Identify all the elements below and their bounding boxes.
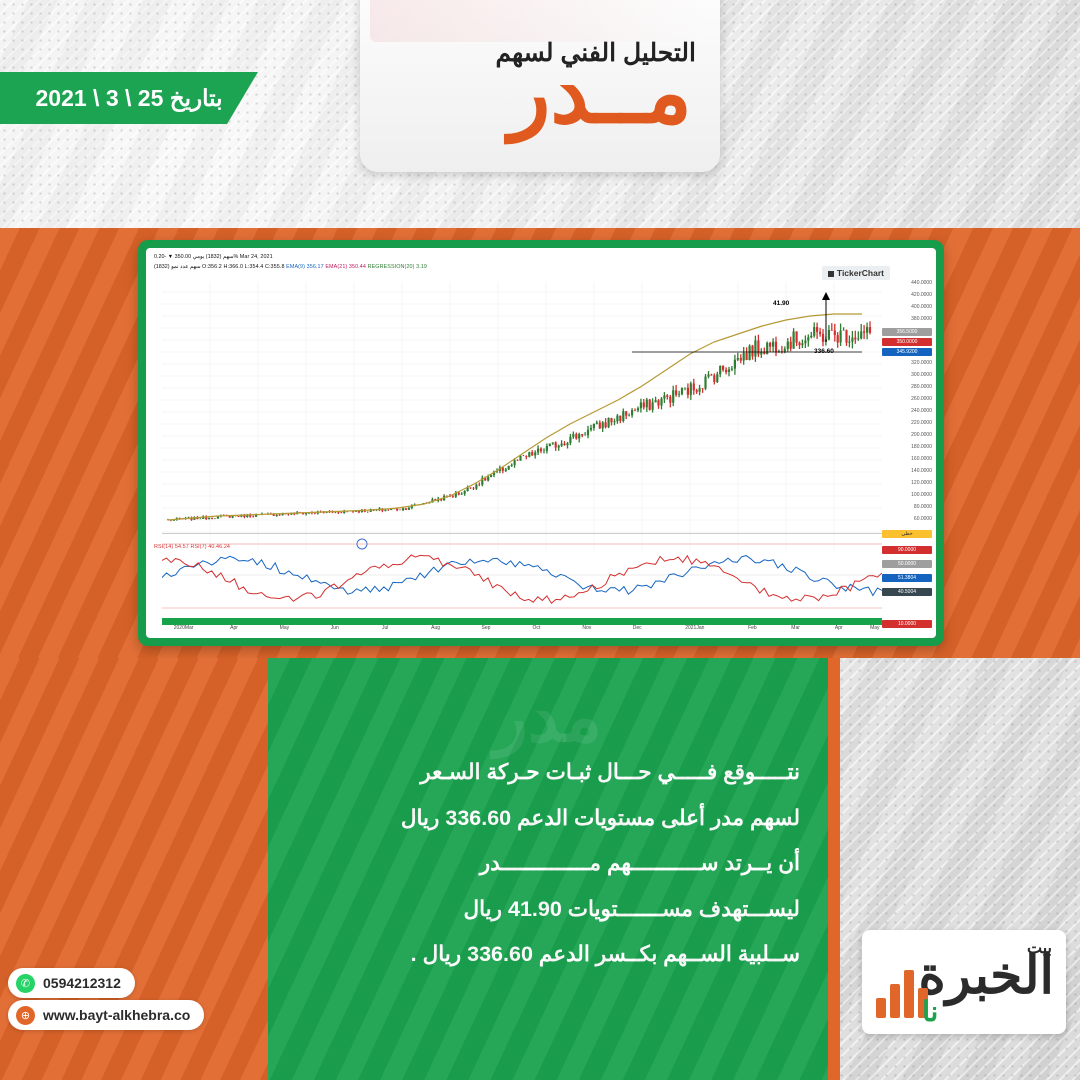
target-price-label: 41.90 — [773, 300, 789, 307]
price-plot — [162, 282, 882, 552]
tickerchart-label: TickerChart — [837, 268, 884, 278]
logo-main-word: الخبرة — [919, 946, 1054, 1006]
logo-accent-word: نا — [922, 995, 938, 1028]
chart-header-ema: EMA(9) 356.17 — [286, 264, 324, 270]
x-tick: Sep — [482, 625, 491, 631]
analysis-panel: مدر نتـــــوقع فـــــي حـــال ثبـات حـرك… — [268, 658, 828, 1080]
page-title: مــدر — [509, 50, 692, 136]
rsi-box-10: 10.0000 — [882, 620, 932, 628]
y-tick: 240.0000 — [882, 408, 932, 414]
y-tick: 160.0000 — [882, 456, 932, 462]
chart-header-instrument: سهم عدد نمو (1832) O:356.2 H:366.0 L:354… — [154, 264, 285, 270]
phone-contact[interactable]: ✆ 0594212312 — [8, 968, 135, 998]
chart-header-regression: REGRESSION(20) 3.19 — [368, 264, 427, 270]
website-contact[interactable]: ⊕ www.bayt-alkhebra.co — [8, 1000, 204, 1030]
support-price-label: 336.60 — [814, 348, 834, 355]
x-tick: Apr — [230, 625, 238, 631]
y-tick: 400.0000 — [882, 304, 932, 310]
y-tick: 100.0000 — [882, 492, 932, 498]
tickerchart-logo: TickerChart — [822, 266, 890, 280]
x-tick: 2020Mar — [174, 625, 194, 631]
x-tick: Mar — [791, 625, 800, 631]
y-tick: 280.0000 — [882, 384, 932, 390]
chart-header-ema2: EMA(21) 350.44 — [325, 264, 366, 270]
analysis-text: نتـــــوقع فـــــي حـــال ثبـات حـركة ال… — [296, 750, 800, 978]
analysis-line: لسهم مدر أعلى مستويات الدعم 336.60 ريال — [296, 796, 800, 842]
x-tick: Aug — [431, 625, 440, 631]
poster-canvas: بتاريخ 25 \ 3 \ 2021 التحليل الفني لسهم … — [0, 0, 1080, 1080]
website-url: www.bayt-alkhebra.co — [43, 1007, 190, 1023]
date-badge: بتاريخ 25 \ 3 \ 2021 — [0, 72, 258, 124]
rsi-box-50: 50.0000 — [882, 560, 932, 568]
brand-logo: بيت الخبرة نا — [862, 930, 1066, 1034]
rsi-box-current: 51.3804 — [882, 574, 932, 582]
x-tick: 2021Jan — [685, 625, 704, 631]
analysis-line: نتـــــوقع فـــــي حـــال ثبـات حـركة ال… — [296, 750, 800, 796]
price-box-level: 350.0000 — [882, 338, 932, 346]
rsi-box-90: 90.0000 — [882, 546, 932, 554]
y-tick: 300.0000 — [882, 372, 932, 378]
y-tick: 120.0000 — [882, 480, 932, 486]
analysis-line: أن يــرتد ســـــــــــهم مــــــــــــــ… — [296, 841, 800, 887]
tickerchart-square-icon — [828, 271, 834, 277]
globe-icon: ⊕ — [16, 1006, 35, 1025]
chart-frame: سهم (1832) يومي 350.00 ▼ -0.20% Mar 24, … — [138, 240, 944, 646]
x-tick: Jun — [331, 625, 339, 631]
price-box-last: 356.5000 — [882, 328, 932, 336]
price-axis: 440.0000 420.0000 400.0000 380.0000 356.… — [882, 278, 934, 628]
y-tick: 420.0000 — [882, 292, 932, 298]
price-box-ema: 345.9200 — [882, 348, 932, 356]
rsi-box-second: 40.5004 — [882, 588, 932, 596]
y-tick: 320.0000 — [882, 360, 932, 366]
y-tick: 220.0000 — [882, 420, 932, 426]
x-tick: Jul — [382, 625, 388, 631]
panel-watermark: مدر — [494, 676, 602, 758]
y-tick: 200.0000 — [882, 432, 932, 438]
x-tick: May — [870, 625, 879, 631]
y-tick: 260.0000 — [882, 396, 932, 402]
title-card: التحليل الفني لسهم مــدر — [360, 0, 720, 172]
y-tick: 60.0000 — [882, 516, 932, 522]
x-tick: Oct — [533, 625, 541, 631]
analysis-line: ســلبية الســهم بكــسر الدعم 336.60 ريال… — [296, 932, 800, 978]
chart-canvas: سهم (1832) يومي 350.00 ▼ -0.20% Mar 24, … — [146, 248, 936, 638]
time-axis: 2020Mar Apr May Jun Jul Aug Sep Oct Nov … — [162, 618, 882, 630]
x-tick: May — [280, 625, 289, 631]
right-orange-strip — [828, 658, 840, 1080]
y-tick: 140.0000 — [882, 468, 932, 474]
time-axis-bar — [162, 618, 882, 625]
y-tick: 180.0000 — [882, 444, 932, 450]
rsi-plot — [162, 533, 882, 616]
chart-header-row1: سهم (1832) يومي 350.00 ▼ -0.20% Mar 24, … — [154, 254, 273, 260]
x-tick: Apr — [835, 625, 843, 631]
chart-header-row2: سهم عدد نمو (1832) O:356.2 H:366.0 L:354… — [154, 264, 427, 270]
analysis-line: ليســـتهدف مســـــــتويات 41.90 ريال — [296, 887, 800, 933]
date-badge-label: بتاريخ 25 \ 3 \ 2021 — [35, 85, 222, 112]
x-tick: Nov — [582, 625, 591, 631]
x-tick: Dec — [633, 625, 642, 631]
phone-number: 0594212312 — [43, 975, 121, 991]
y-tick: 80.0000 — [882, 504, 932, 510]
y-tick: 380.0000 — [882, 316, 932, 322]
y-tick: 440.0000 — [882, 280, 932, 286]
title-card-glow — [370, 0, 710, 42]
whatsapp-icon: ✆ — [16, 974, 35, 993]
x-tick: Feb — [748, 625, 757, 631]
price-box-scale: خطي — [882, 530, 932, 538]
